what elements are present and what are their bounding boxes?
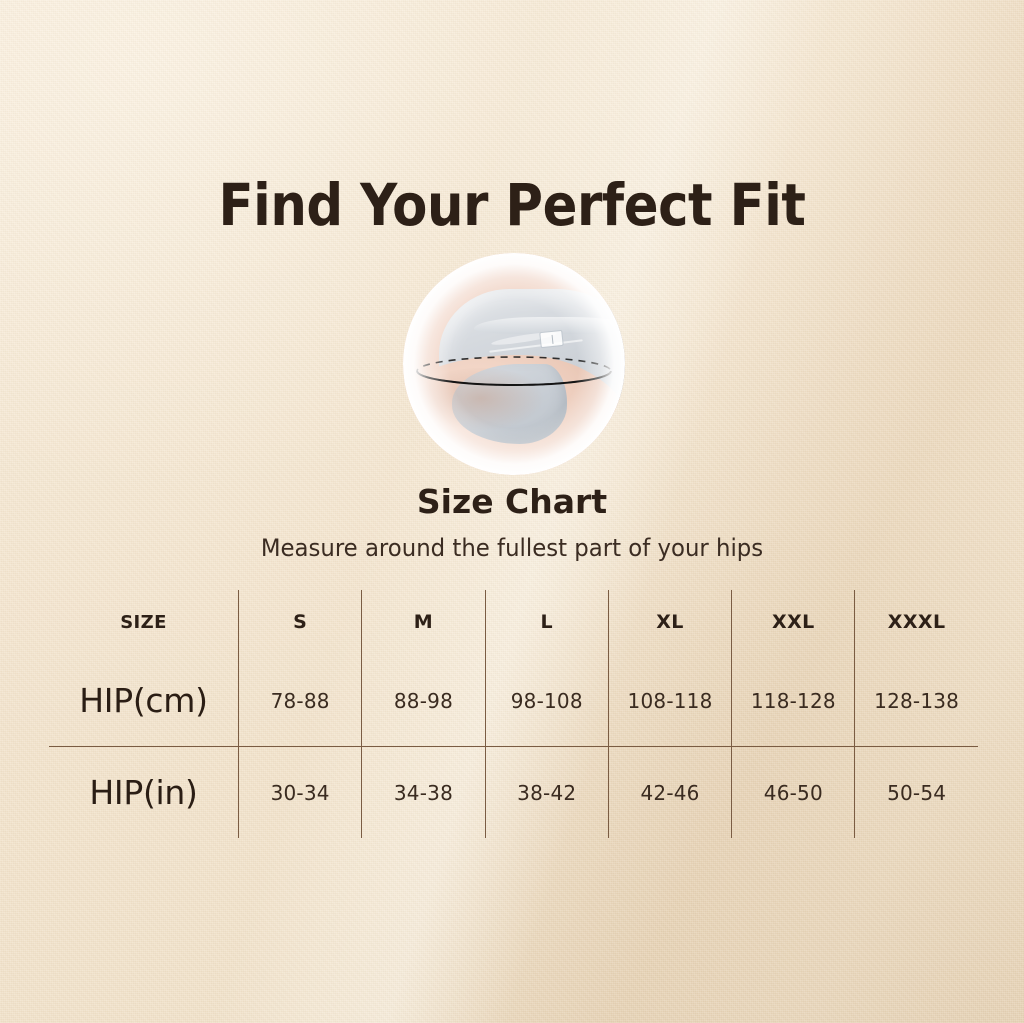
column-header-xl: XL (608, 590, 731, 655)
row-label-hip-in: HIP(in) (49, 747, 239, 839)
cell-hip-cm-s: 78-88 (239, 655, 362, 747)
column-header-s: S (239, 590, 362, 655)
cell-hip-in-xl: 42-46 (608, 747, 731, 839)
hip-measurement-illustration (403, 253, 625, 475)
size-chart-page: Find Your Perfect Fit Size Chart Measure… (0, 0, 1024, 1023)
cell-hip-in-l: 38-42 (485, 747, 608, 839)
column-header-l: L (485, 590, 608, 655)
column-header-xxl: XXL (732, 590, 855, 655)
table-header-row: SIZE S M L XL XXL XXXL (49, 590, 979, 655)
row-label-hip-cm: HIP(cm) (49, 655, 239, 747)
size-chart-table: SIZE S M L XL XXL XXXL HIP(cm) 78-88 88-… (48, 589, 979, 839)
section-title: Size Chart (0, 485, 1024, 518)
column-header-xxxl: XXXL (855, 590, 978, 655)
cell-hip-in-xxxl: 50-54 (855, 747, 978, 839)
cell-hip-cm-xxl: 118-128 (732, 655, 855, 747)
column-header-size: SIZE (49, 590, 239, 655)
column-header-m: M (362, 590, 485, 655)
table-row-hip-in: HIP(in) 30-34 34-38 38-42 42-46 46-50 50… (49, 747, 979, 839)
cell-hip-cm-xl: 108-118 (608, 655, 731, 747)
cell-hip-in-xxl: 46-50 (732, 747, 855, 839)
cell-hip-cm-l: 98-108 (485, 655, 608, 747)
cell-hip-in-m: 34-38 (362, 747, 485, 839)
table-row-hip-cm: HIP(cm) 78-88 88-98 98-108 108-118 118-1… (49, 655, 979, 747)
cell-hip-in-s: 30-34 (239, 747, 362, 839)
page-title: Find Your Perfect Fit (59, 176, 965, 234)
measure-instruction: Measure around the fullest part of your … (26, 536, 999, 560)
cell-hip-cm-m: 88-98 (362, 655, 485, 747)
cell-hip-cm-xxxl: 128-138 (855, 655, 978, 747)
measurement-tape-icon (403, 253, 625, 475)
